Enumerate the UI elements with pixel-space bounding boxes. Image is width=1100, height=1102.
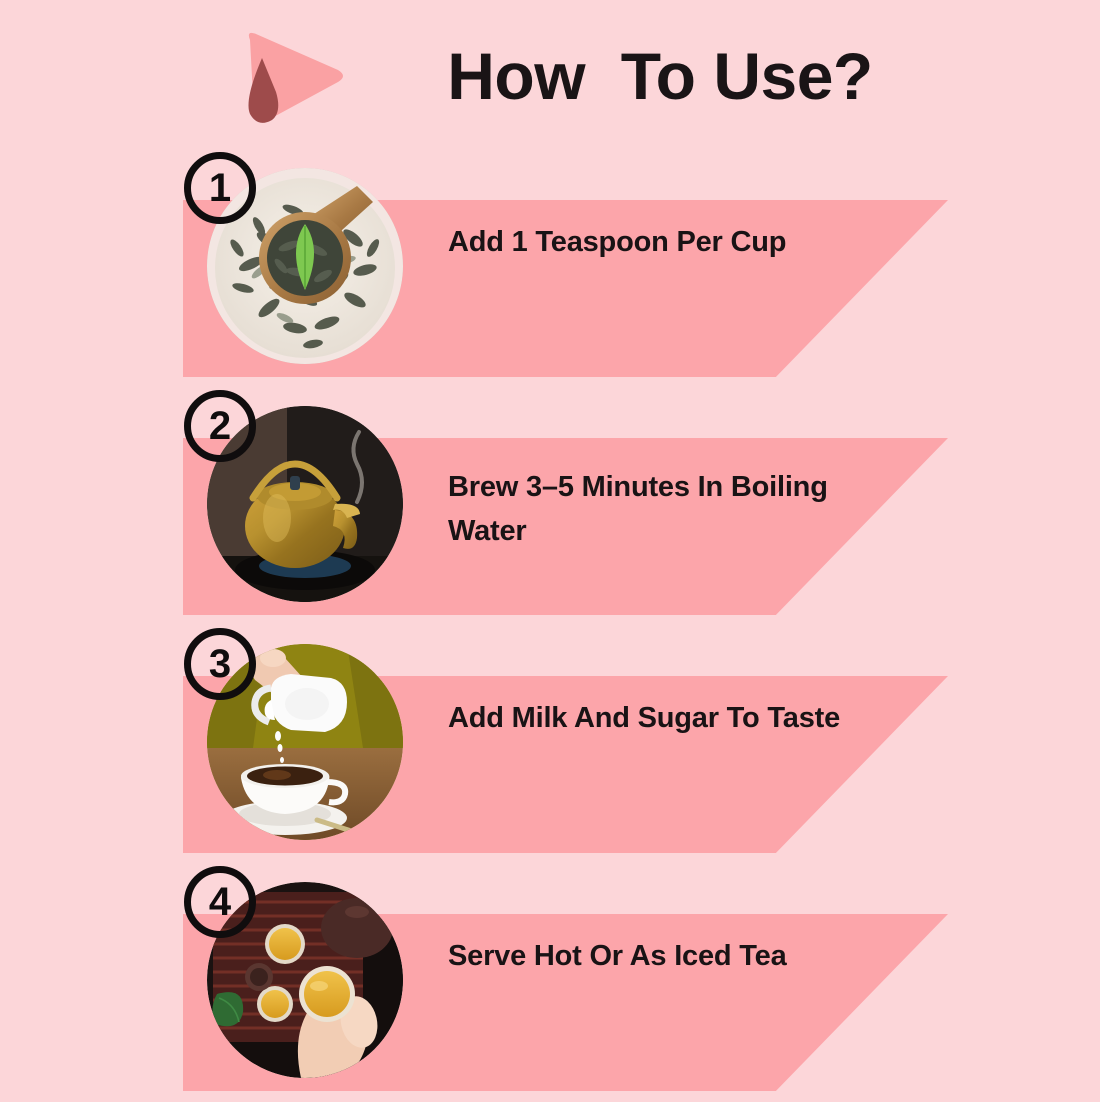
step-caption-1: Add 1 Teaspoon Per Cup xyxy=(448,220,848,265)
step-item-3[interactable]: 3 Add Milk And Sugar To Taste xyxy=(0,626,1100,864)
step-badge-2: 2 xyxy=(184,390,256,462)
step-item-1[interactable]: 1 Add 1 Teaspoon Per Cup xyxy=(0,150,1100,388)
steps-list: 1 Add 1 Teaspoon Per Cup xyxy=(0,150,1100,1100)
step-badge-3: 3 xyxy=(184,628,256,700)
step-number: 4 xyxy=(209,882,231,922)
step-caption-3: Add Milk And Sugar To Taste xyxy=(448,696,848,741)
step-item-2[interactable]: 2 Brew 3–5 Minutes In Boiling Water xyxy=(0,388,1100,626)
page-title: How To Use? xyxy=(380,28,940,124)
step-caption-4: Serve Hot Or As Iced Tea xyxy=(448,934,848,979)
step-item-4[interactable]: 4 Serve Hot Or As Iced Tea xyxy=(0,864,1100,1102)
step-number: 1 xyxy=(209,168,231,208)
step-number: 3 xyxy=(209,644,231,684)
how-to-use-infographic: { "page": { "background_color": "#FCD6D9… xyxy=(0,0,1100,1100)
step-number: 2 xyxy=(209,406,231,446)
step-badge-1: 1 xyxy=(184,152,256,224)
step-badge-4: 4 xyxy=(184,866,256,938)
play-triangle-icon xyxy=(238,26,350,130)
header: How To Use? xyxy=(0,0,1100,150)
step-caption-2: Brew 3–5 Minutes In Boiling Water xyxy=(448,466,848,553)
